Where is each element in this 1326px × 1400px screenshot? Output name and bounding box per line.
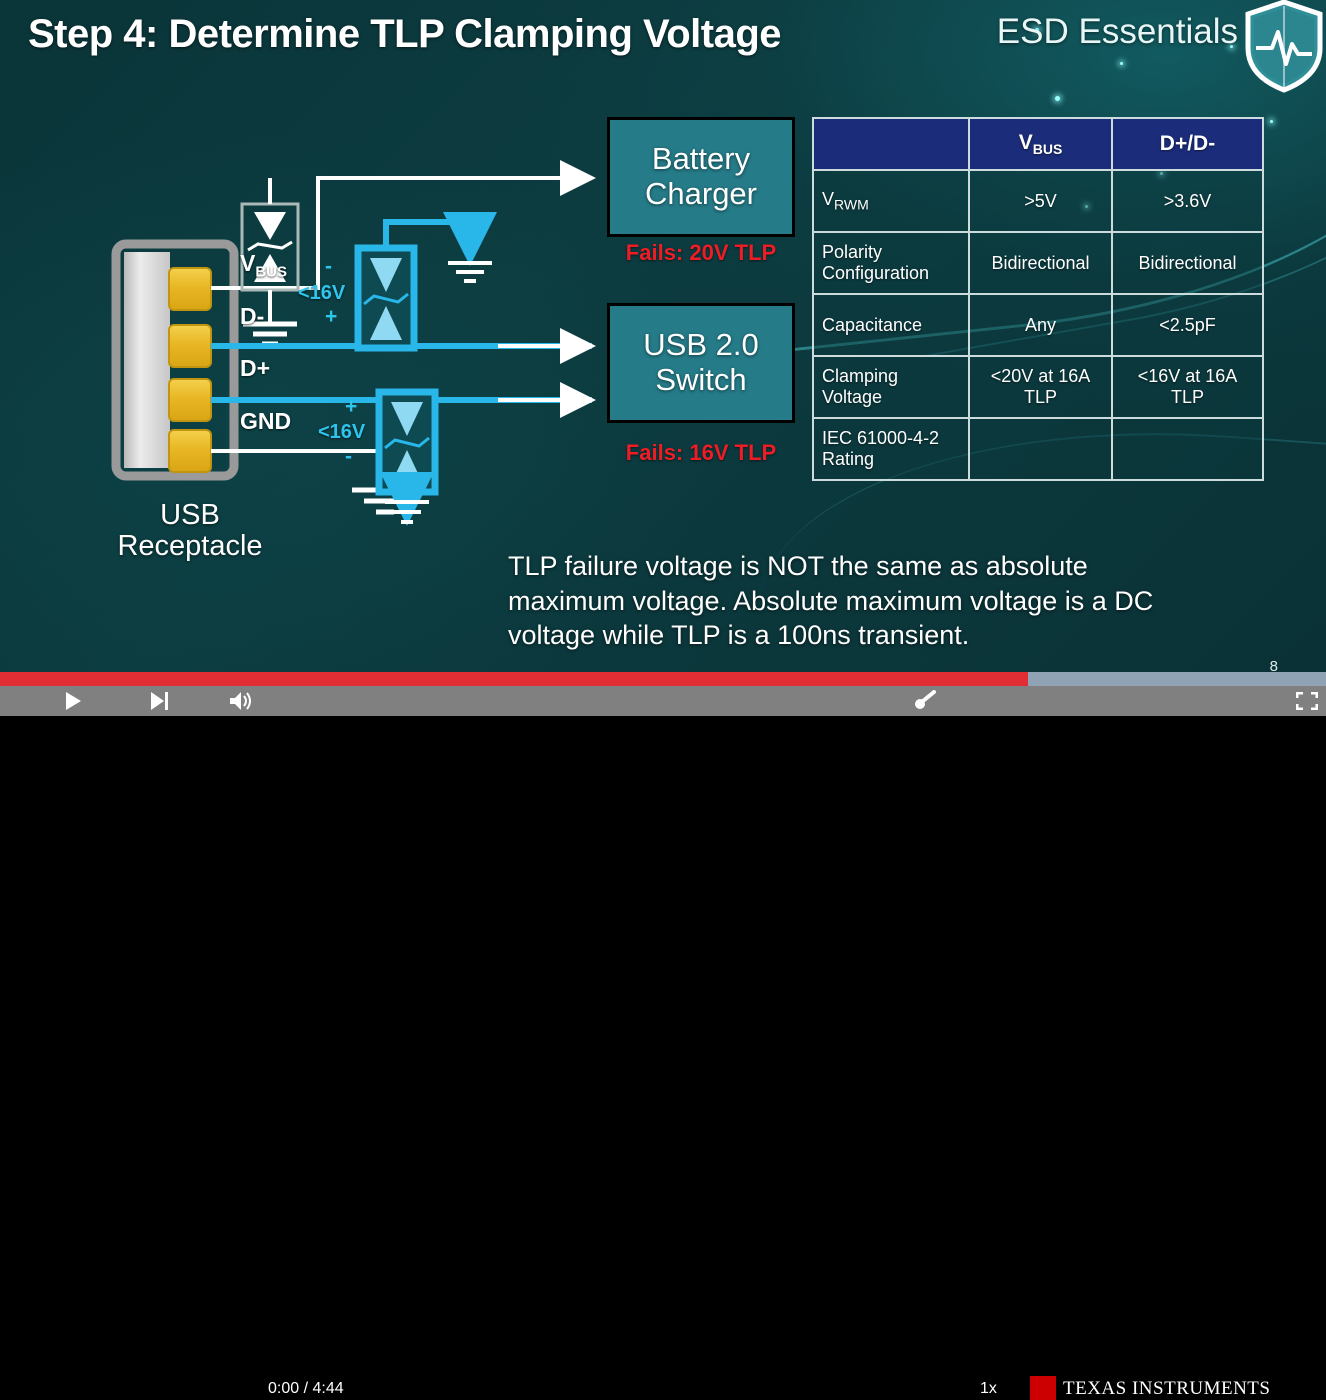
table-row: IEC 61000-4-2 Rating [813,418,1263,480]
table-cell-vbus: Any [969,294,1112,356]
tvs-lower-value: <16V [318,421,365,444]
tvs-lower-bottom-sign: - [345,445,352,469]
usb-caption-line2: Receptacle [95,531,285,562]
table-cell-label: VRWM [813,170,969,232]
table-row: Polarity Configuration Bidirectional Bid… [813,232,1263,294]
settings-gear-icon[interactable] [912,690,936,717]
table-header-vbus: VBUS [969,118,1112,170]
fail-note-battery-charger: Fails: 20V TLP [601,240,801,266]
table-row: VRWM >5V >3.6V [813,170,1263,232]
pin-label-vbus-sub: BUS [255,264,287,281]
table-cell-dpd: Bidirectional [1112,232,1263,294]
video-progress-bar[interactable] [0,672,1326,686]
table-cell-label: Clamping Voltage [813,356,969,418]
block-usb-switch-line2: Switch [655,363,746,398]
block-usb-switch: USB 2.0 Switch [607,303,795,423]
block-battery-charger-line2: Charger [645,177,757,212]
table-cell-dpd: <16V at 16A TLP [1112,356,1263,418]
table-row: Clamping Voltage <20V at 16A TLP <16V at… [813,356,1263,418]
play-icon[interactable] [62,690,84,717]
block-battery-charger-line1: Battery [652,142,750,177]
pin-label-dminus: D- [240,303,264,330]
table-cell-vbus: Bidirectional [969,232,1112,294]
table-cell-dpd [1112,418,1263,480]
pin-label-gnd: GND [240,408,291,435]
esd-shield-heartbeat-icon [1242,0,1326,94]
table-cell-dpd: <2.5pF [1112,294,1263,356]
pin-label-vbus: VBUS [240,250,287,281]
table-row: Capacitance Any <2.5pF [813,294,1263,356]
background-sparkle [1270,120,1273,123]
table-header-blank [813,118,969,170]
video-progress-fill [0,672,1028,686]
volume-icon[interactable] [228,690,254,717]
tvs-upper-top-sign: - [325,255,332,279]
tvs-upper-value: <16V [298,282,345,305]
video-player-controls: 0:00 / 4:44 1x TEXAS INSTRUMENTS [0,686,1326,716]
table-cell-dpd: >3.6V [1112,170,1263,232]
table-header-row: VBUS D+/D- [813,118,1263,170]
row-label-vrwm-sub: RWM [834,197,869,213]
table-cell-vbus [969,418,1112,480]
block-usb-switch-line1: USB 2.0 [643,328,758,363]
table-header-vbus-main: V [1019,131,1033,154]
tvs-lower-top-sign: + [345,395,357,419]
table-cell-vbus: <20V at 16A TLP [969,356,1112,418]
table-cell-label: Polarity Configuration [813,232,969,294]
pin-label-vbus-text: V [240,250,255,276]
background-sparkle [1055,96,1060,101]
ti-watermark-text: TEXAS INSTRUMENTS [1063,1378,1270,1400]
usb-caption-line1: USB [95,500,285,531]
background-sparkle [1120,62,1123,65]
table-header-vbus-sub: BUS [1033,141,1063,157]
slide-caption: TLP failure voltage is NOT the same as a… [508,549,1208,653]
table-header-dpd: D+/D- [1112,118,1263,170]
video-time-display: 0:00 / 4:44 [268,1380,344,1398]
table-cell-label: Capacitance [813,294,969,356]
row-label-vrwm: V [822,189,834,209]
esd-spec-table: VBUS D+/D- VRWM >5V >3.6V Polarity Confi… [812,117,1264,481]
tvs-upper-bottom-sign: + [325,305,337,329]
series-brand-label: ESD Essentials [997,12,1238,52]
fail-note-usb-switch: Fails: 16V TLP [601,440,801,466]
table-cell-vbus: >5V [969,170,1112,232]
playback-speed-label[interactable]: 1x [980,1380,997,1398]
slide-title: Step 4: Determine TLP Clamping Voltage [28,12,781,57]
ti-logo-mark [1030,1376,1056,1400]
pin-label-dplus: D+ [240,355,270,382]
fullscreen-icon[interactable] [1296,692,1318,715]
table-cell-label: IEC 61000-4-2 Rating [813,418,969,480]
presentation-slide: Step 4: Determine TLP Clamping Voltage E… [0,0,1326,686]
next-track-icon[interactable] [148,690,170,717]
block-battery-charger: Battery Charger [607,117,795,237]
usb-receptacle-caption: USB Receptacle [95,500,285,563]
